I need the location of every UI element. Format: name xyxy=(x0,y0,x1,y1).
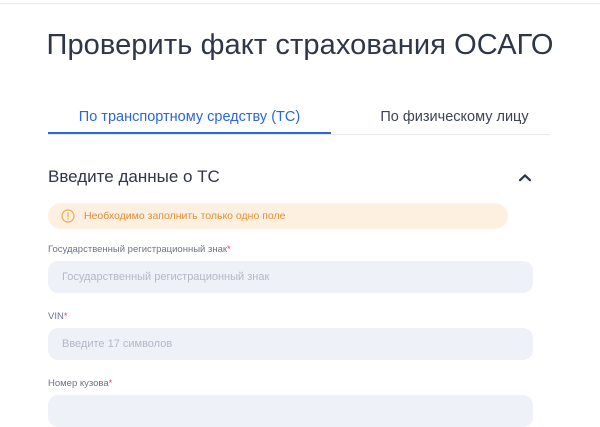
required-asterisk: * xyxy=(109,378,113,389)
required-asterisk: * xyxy=(227,244,231,255)
field-registration-plate-label-text: Государственный регистрационный знак xyxy=(48,244,227,255)
vin-input[interactable] xyxy=(48,328,533,360)
field-body-number-label-text: Номер кузова xyxy=(48,378,109,389)
tab-bar: По транспортному средству (ТС) По физиче… xyxy=(48,100,550,135)
registration-plate-input[interactable] xyxy=(48,261,533,293)
body-number-input[interactable] xyxy=(48,395,533,427)
page-title: Проверить факт страхования ОСАГО xyxy=(0,27,600,64)
tab-active-indicator xyxy=(48,132,331,134)
field-body-number: Номер кузова* xyxy=(48,377,533,427)
field-registration-plate-label: Государственный регистрационный знак* xyxy=(48,243,533,256)
warning-message: Необходимо заполнить только одно поле xyxy=(84,203,286,229)
tab-by-person[interactable]: По физическому лицу xyxy=(359,100,550,134)
tab-by-vehicle[interactable]: По транспортному средству (ТС) xyxy=(48,100,331,134)
top-divider xyxy=(0,3,600,4)
field-vin-label-text: VIN xyxy=(48,311,64,322)
chevron-up-icon[interactable] xyxy=(516,170,534,186)
tab-by-vehicle-label: По транспортному средству (ТС) xyxy=(79,109,300,125)
required-asterisk: * xyxy=(64,311,68,322)
field-body-number-label: Номер кузова* xyxy=(48,377,533,390)
exclamation-circle-icon xyxy=(61,209,75,223)
vehicle-data-section-header[interactable]: Введите данные о ТС xyxy=(48,162,534,194)
field-vin: VIN* xyxy=(48,310,533,360)
section-title: Введите данные о ТС xyxy=(48,162,220,192)
osago-check-page: Проверить факт страхования ОСАГО По тран… xyxy=(0,0,600,403)
tab-by-person-label: По физическому лицу xyxy=(380,109,528,125)
warning-banner: Необходимо заполнить только одно поле xyxy=(48,203,508,229)
field-registration-plate: Государственный регистрационный знак* xyxy=(48,243,533,293)
tab-bar-divider xyxy=(48,134,550,135)
field-vin-label: VIN* xyxy=(48,310,533,323)
